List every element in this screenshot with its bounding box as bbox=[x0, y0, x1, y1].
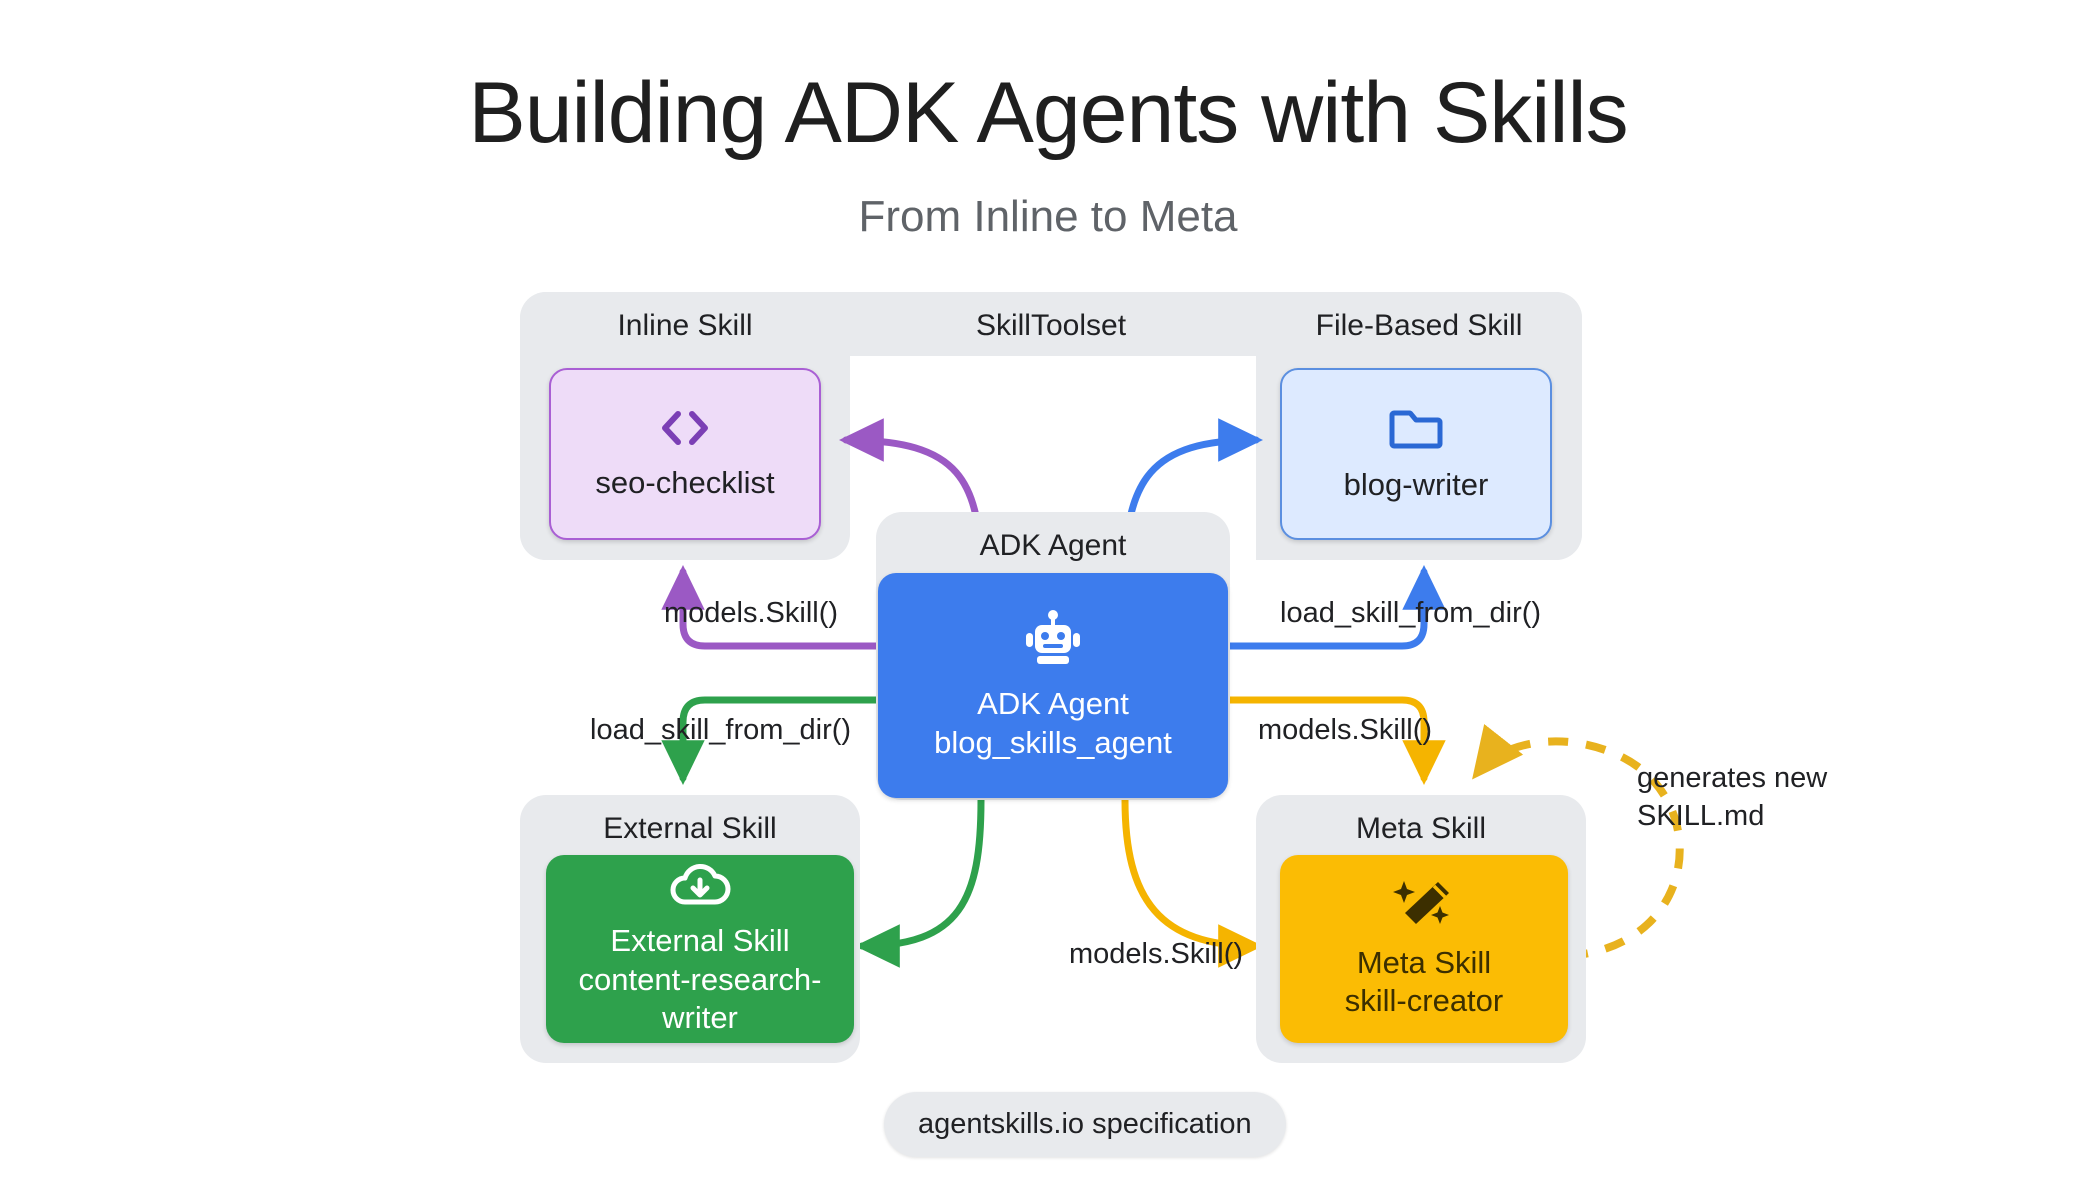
edge-label-models-skill-meta-bottom: models.Skill() bbox=[1069, 938, 1243, 971]
edge-label-load-skill-from-dir-external: load_skill_from_dir() bbox=[590, 714, 851, 747]
node-blog-writer[interactable]: blog-writer bbox=[1280, 368, 1552, 540]
node-adk-agent[interactable]: ADK Agent blog_skills_agent bbox=[878, 573, 1228, 798]
node-blog-writer-label: blog-writer bbox=[1344, 466, 1489, 504]
magic-wand-icon bbox=[1392, 878, 1456, 930]
folder-icon bbox=[1386, 404, 1446, 452]
group-external-skill-label: External Skill bbox=[520, 812, 860, 846]
footer-spec-pill: agentskills.io specification bbox=[884, 1092, 1286, 1157]
robot-icon bbox=[1021, 609, 1085, 671]
cloud-download-icon bbox=[668, 860, 732, 908]
edge-agent-to-external-curve bbox=[862, 800, 981, 946]
edge-agent-to-meta-curve bbox=[1125, 800, 1256, 946]
diagram-canvas: Building ADK Agents with Skills From Inl… bbox=[0, 0, 2096, 1182]
node-content-research-writer-label: External Skill content-research-writer bbox=[546, 922, 854, 1037]
node-adk-agent-label: ADK Agent blog_skills_agent bbox=[934, 685, 1172, 762]
edge-label-models-skill-meta-top: models.Skill() bbox=[1258, 714, 1432, 747]
node-skill-creator-label: Meta Skill skill-creator bbox=[1345, 944, 1503, 1021]
group-meta-skill-label: Meta Skill bbox=[1256, 812, 1586, 846]
page-title: Building ADK Agents with Skills bbox=[0, 68, 2096, 158]
node-content-research-writer[interactable]: External Skill content-research-writer bbox=[546, 855, 854, 1043]
node-seo-checklist[interactable]: seo-checklist bbox=[549, 368, 821, 540]
edge-label-generates-new-skill-md: generates new SKILL.md bbox=[1637, 760, 1827, 835]
page-subtitle: From Inline to Meta bbox=[0, 192, 2096, 242]
node-skill-creator[interactable]: Meta Skill skill-creator bbox=[1280, 855, 1568, 1043]
code-brackets-icon bbox=[654, 406, 716, 450]
edge-label-models-skill-inline: models.Skill() bbox=[664, 597, 838, 630]
group-inline-skill-label: Inline Skill bbox=[520, 309, 850, 343]
group-file-based-skill-label: File-Based Skill bbox=[1256, 309, 1582, 343]
node-seo-checklist-label: seo-checklist bbox=[595, 464, 774, 502]
group-adk-agent-label: ADK Agent bbox=[876, 529, 1230, 563]
edge-label-load-skill-from-dir-file: load_skill_from_dir() bbox=[1280, 597, 1541, 630]
